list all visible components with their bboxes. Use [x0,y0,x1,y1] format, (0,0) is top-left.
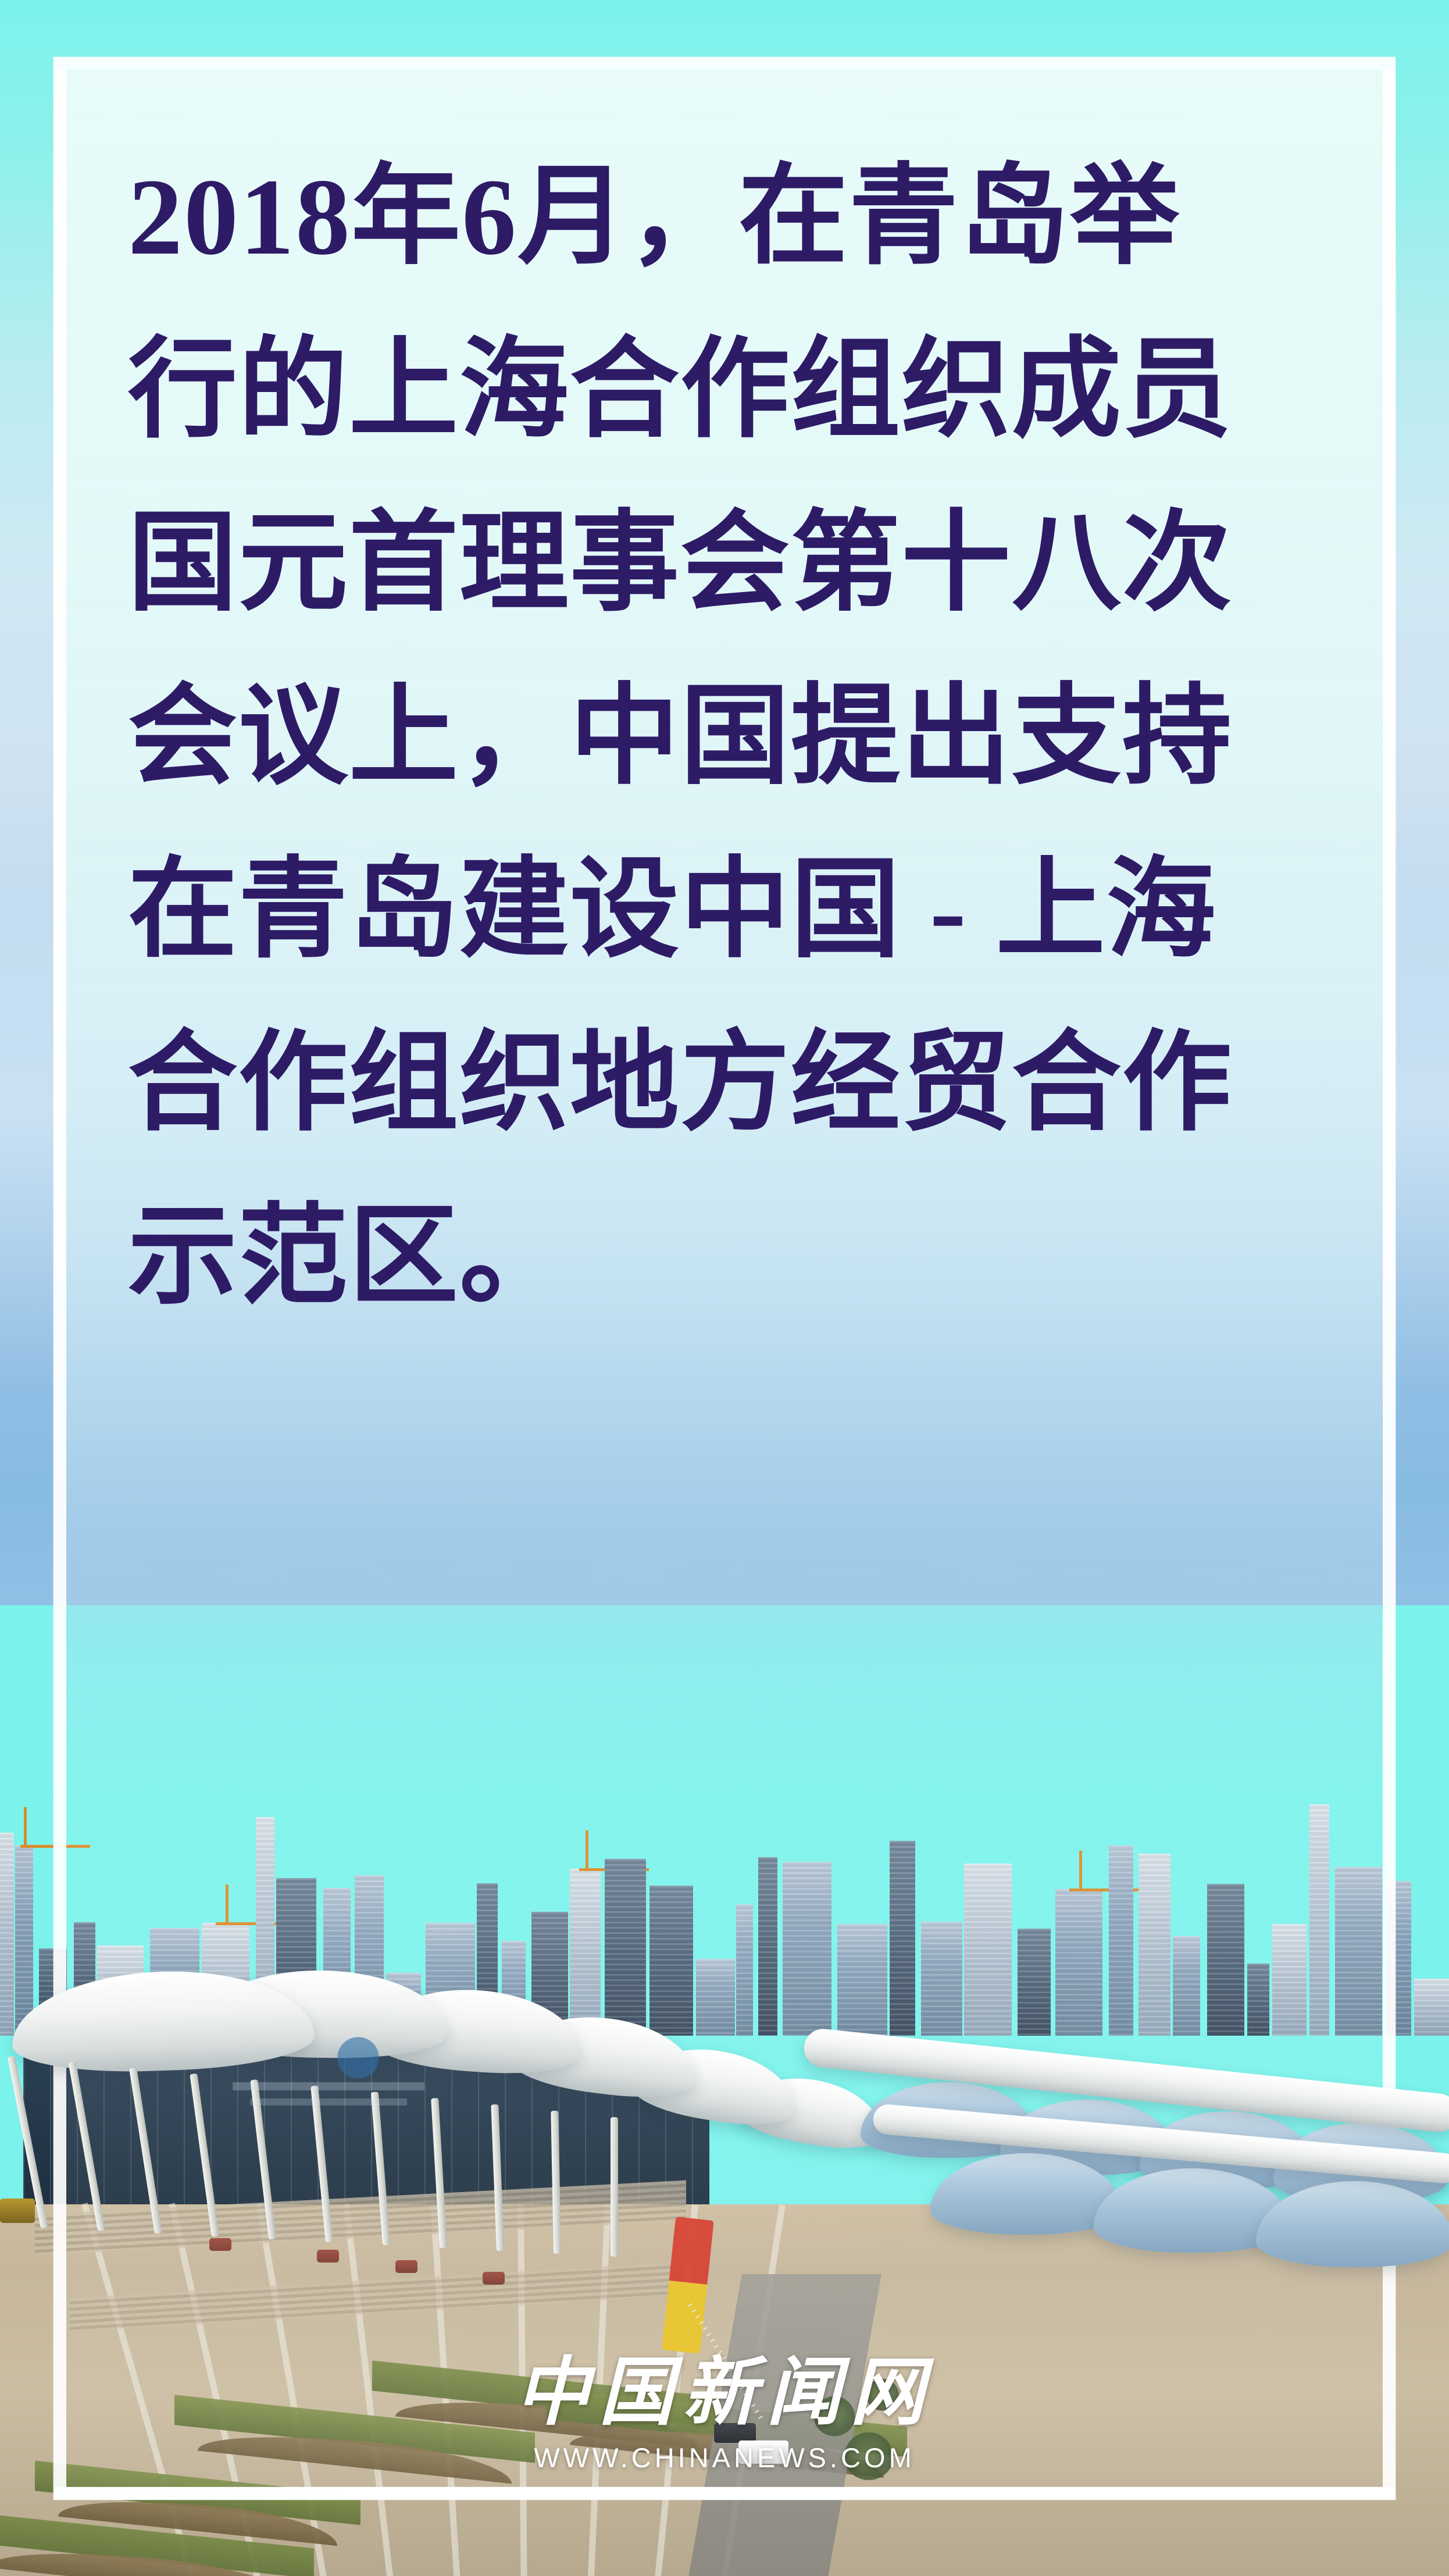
headline-line-7: 示范区。 [128,1170,1326,1344]
sco-emblem-icon [335,2035,381,2081]
headline-text: 2018年6月，在青岛举行的上海合作组织成员国元首理事会第十八次会议上，中国提出… [53,57,1396,1344]
work-vehicle [0,2199,35,2223]
support-column [611,2117,618,2257]
headline-line-4: 会议上，中国提出支持 [128,650,1326,824]
headline-line-1: 2018年6月，在青岛举 [128,130,1326,304]
headline-line-3: 国元首理事会第十八次 [128,477,1326,650]
facade-sign-line-2 [250,2098,407,2105]
construction-crane-mast [24,1807,27,1848]
headline-line-5: 在青岛建设中国 - 上海 [128,824,1326,997]
poster-root: 2018年6月，在青岛举行的上海合作组织成员国元首理事会第十八次会议上，中国提出… [0,0,1449,2576]
facade-sign-line-1 [233,2082,424,2090]
headline-line-6: 合作组织地方经贸合作 [128,997,1326,1170]
headline-line-2: 行的上海合作组织成员 [128,304,1326,477]
